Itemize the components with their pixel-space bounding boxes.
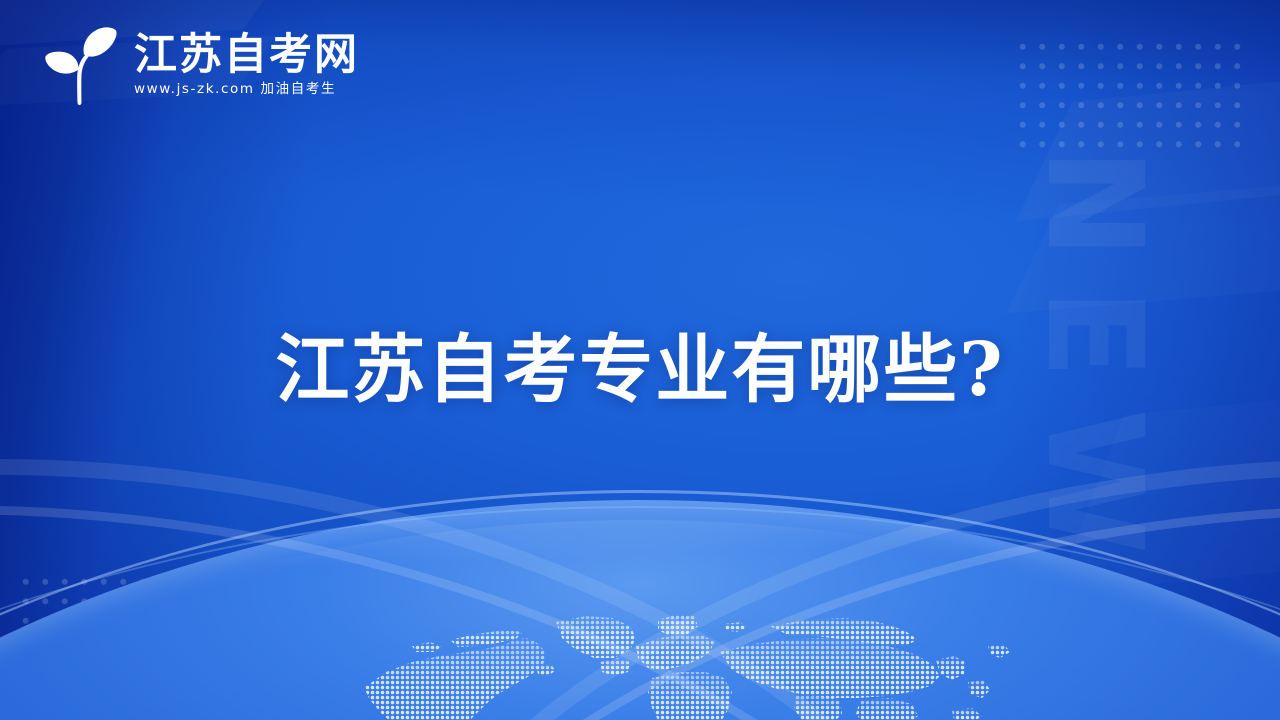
news-banner: NEWS NEWS (0, 0, 1280, 720)
logo-title: 江苏自考网 (134, 34, 359, 77)
logo-subtitle: www.js-zk.com 加油自考生 (134, 83, 359, 97)
page-title: 江苏自考专业有哪些? (0, 330, 1280, 411)
sprout-leaf-icon (36, 24, 120, 106)
dot-grid-icon-top-right (1013, 37, 1245, 156)
world-map-icon (300, 600, 1020, 720)
site-logo[interactable]: 江苏自考网 www.js-zk.com 加油自考生 (36, 24, 359, 106)
logo-text-block: 江苏自考网 www.js-zk.com 加油自考生 (134, 34, 359, 97)
